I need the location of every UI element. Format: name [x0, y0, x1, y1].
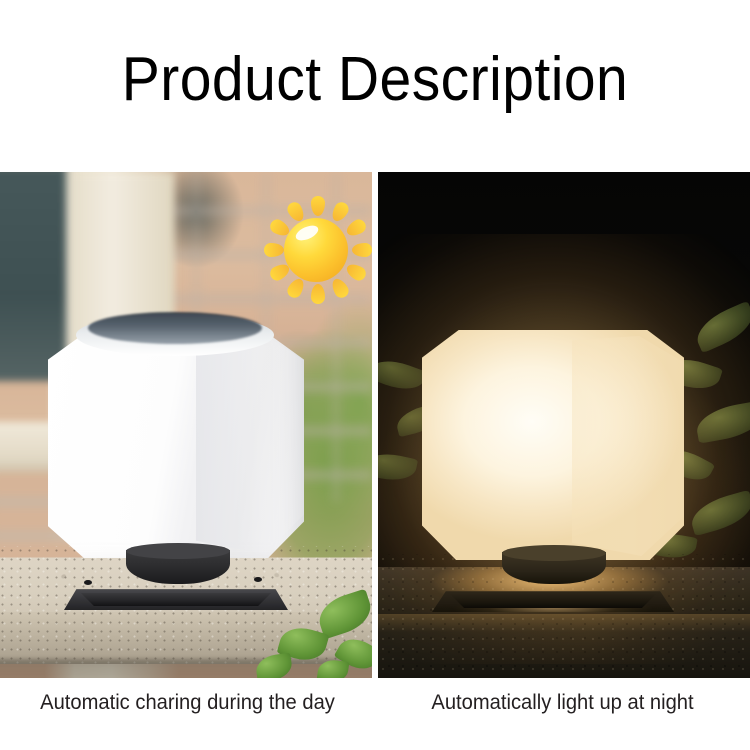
- day-panel: [0, 172, 372, 678]
- solar-post-lamp-unlit: [48, 312, 304, 612]
- sun-ray: [329, 200, 351, 224]
- panel-captions: Automatic charing during the day Automat…: [0, 678, 750, 750]
- leaf-icon: [254, 653, 293, 678]
- solar-post-lamp-lit: [422, 320, 684, 616]
- lamp-side-facet-lit: [572, 336, 684, 556]
- sun-ray: [311, 196, 325, 216]
- screw-hole-icon: [254, 577, 262, 582]
- page-title: Product Description: [30, 44, 720, 116]
- leaf-icon: [687, 490, 750, 536]
- leaf-icon: [317, 658, 350, 678]
- leaf-icon: [694, 400, 750, 443]
- sun-ray: [344, 217, 368, 239]
- sun-ray: [352, 243, 372, 257]
- sun-icon: [262, 200, 372, 300]
- sun-ray: [329, 276, 351, 300]
- lamp-side-facet: [196, 334, 304, 554]
- mounting-plate-edge: [68, 593, 284, 606]
- caption-day: Automatic charing during the day: [8, 678, 368, 750]
- night-panel: [378, 172, 750, 678]
- solar-panel: [88, 312, 262, 344]
- screw-hole-icon: [84, 580, 92, 585]
- lamp-base-cylinder: [126, 550, 230, 584]
- leaf-icon: [314, 589, 372, 640]
- comparison-panels: [0, 172, 750, 678]
- sun-ray: [264, 243, 284, 257]
- sun-ray: [311, 284, 325, 304]
- mounting-plate-edge: [436, 594, 670, 608]
- lamp-base-cylinder: [502, 552, 606, 584]
- sun-ray: [344, 261, 368, 283]
- leaf-icon: [378, 449, 418, 485]
- leaf-icon: [691, 301, 750, 354]
- caption-night: Automatically light up at night: [383, 678, 743, 750]
- leaf-icon: [378, 354, 427, 397]
